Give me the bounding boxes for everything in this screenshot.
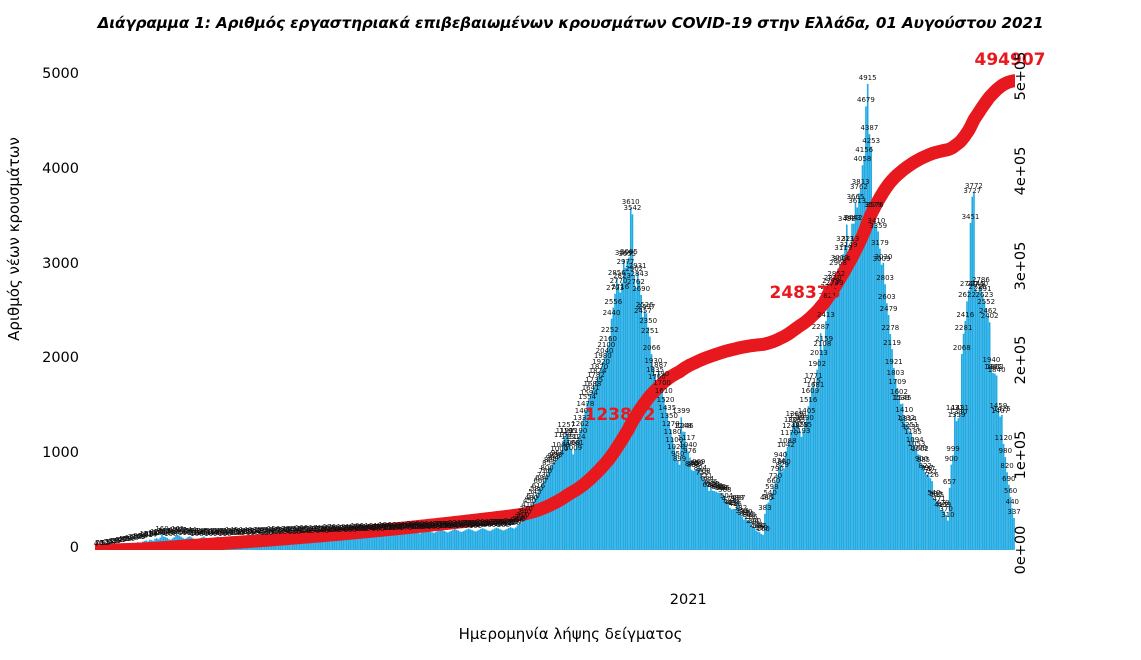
chart-page: Διάγραμμα 1: Αριθμός εργαστηριακά επιβεβ… xyxy=(0,0,1141,660)
y-tick-label-right: 1e+05 xyxy=(1013,431,1029,480)
bars-group xyxy=(95,84,1015,550)
y-tick-label-left: 4000 xyxy=(0,161,79,177)
x-axis-label: Ημερομηνία λήψης δείγματος xyxy=(0,625,1141,643)
y-tick-label-left: 1000 xyxy=(0,445,79,461)
x-tick-label: 2021 xyxy=(670,592,707,608)
page-title: Διάγραμμα 1: Αριθμός εργαστηριακά επιβεβ… xyxy=(0,14,1141,32)
chart-canvas xyxy=(95,57,1015,550)
cumulative-annotation: 248378 xyxy=(770,283,841,303)
cumulative-annotation: 123892 xyxy=(585,405,656,425)
y-tick-label-right: 4e+05 xyxy=(1013,146,1029,195)
y-tick-label-left: 2000 xyxy=(0,350,79,366)
bar-series xyxy=(95,84,1015,550)
y-tick-label-right: 3e+05 xyxy=(1013,241,1029,290)
y-tick-label-right: 2e+05 xyxy=(1013,336,1029,385)
y-tick-label-right: 5e+05 xyxy=(1013,52,1029,101)
y-tick-label-left: 3000 xyxy=(0,256,79,272)
y-tick-label-right: 0e+00 xyxy=(1013,526,1029,575)
y-tick-label-left: 0 xyxy=(0,540,79,556)
cumulative-annotation: 494907 xyxy=(975,50,1046,70)
y-tick-label-left: 5000 xyxy=(0,66,79,82)
plot-area xyxy=(95,57,1015,550)
